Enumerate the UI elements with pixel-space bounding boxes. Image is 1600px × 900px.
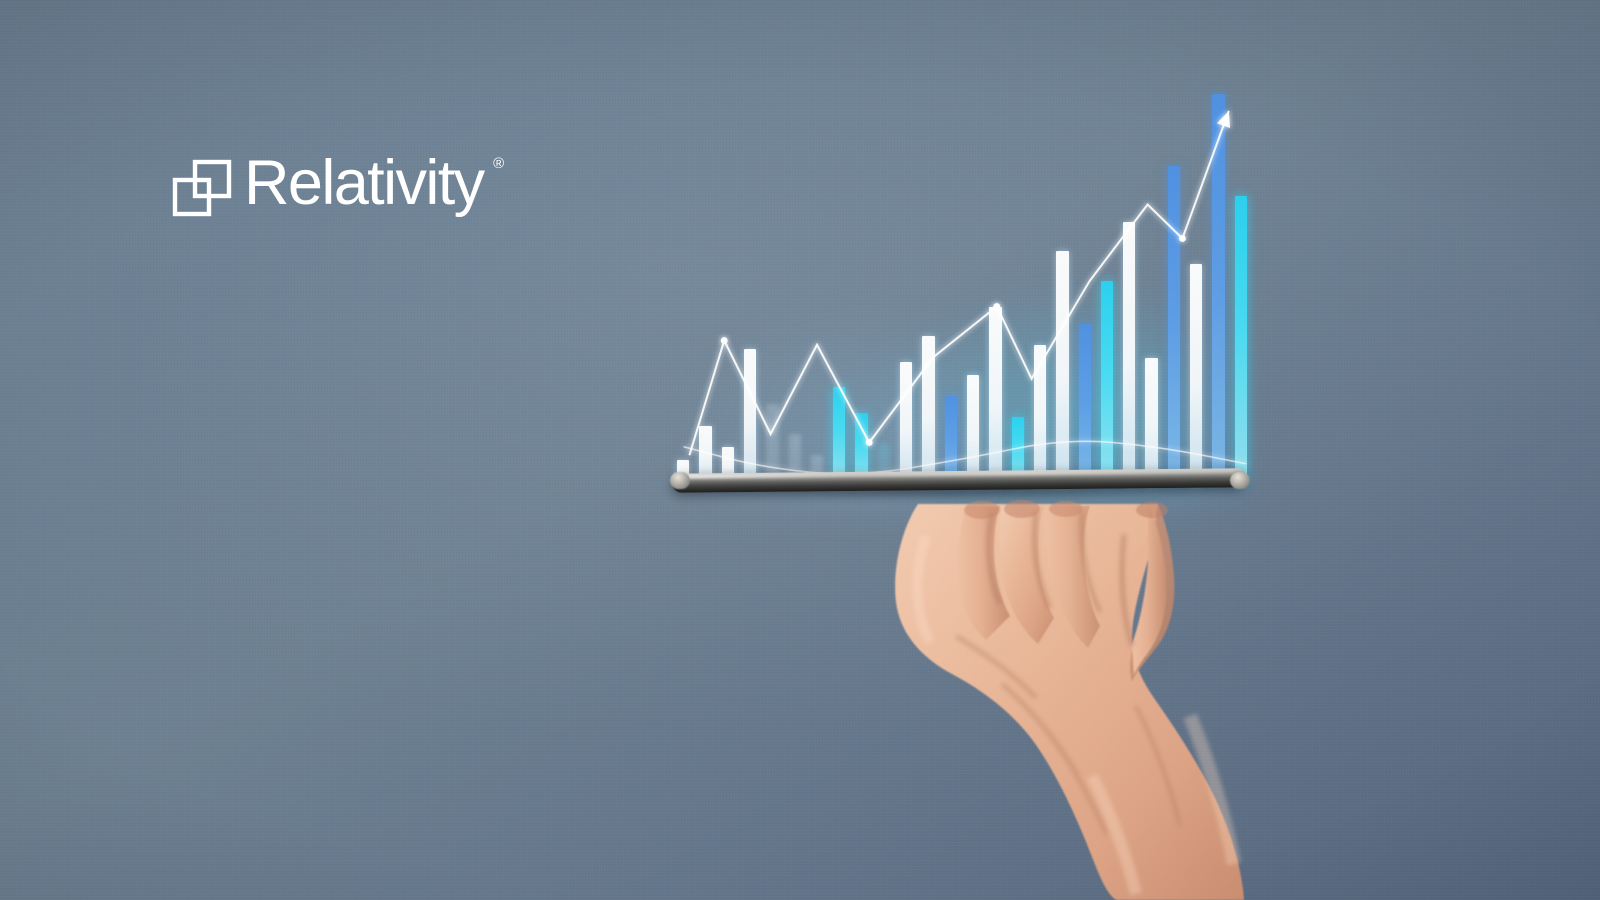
trend-vertex-marker — [993, 303, 1000, 310]
two-overlapping-squares-icon — [172, 159, 232, 217]
trend-vertex-marker — [1179, 235, 1186, 242]
scene-root: Relativity ® — [0, 0, 1600, 900]
hand — [806, 476, 1276, 900]
registered-trademark-icon: ® — [493, 156, 502, 171]
hand-shape — [895, 500, 1244, 900]
logo-wordmark: Relativity ® — [244, 152, 484, 217]
trend-arrowhead-icon — [1217, 111, 1230, 128]
logo-wordmark-text: Relativity — [244, 148, 484, 218]
trend-vertex-marker — [866, 439, 873, 446]
holographic-bar-chart — [672, 60, 1252, 485]
trend-vertex-marker — [721, 337, 728, 344]
relativity-logo[interactable]: Relativity ® — [172, 152, 484, 217]
chart-trend-lines — [672, 60, 1252, 485]
trend-polyline — [689, 111, 1228, 455]
tablet-left-cap — [670, 472, 690, 489]
